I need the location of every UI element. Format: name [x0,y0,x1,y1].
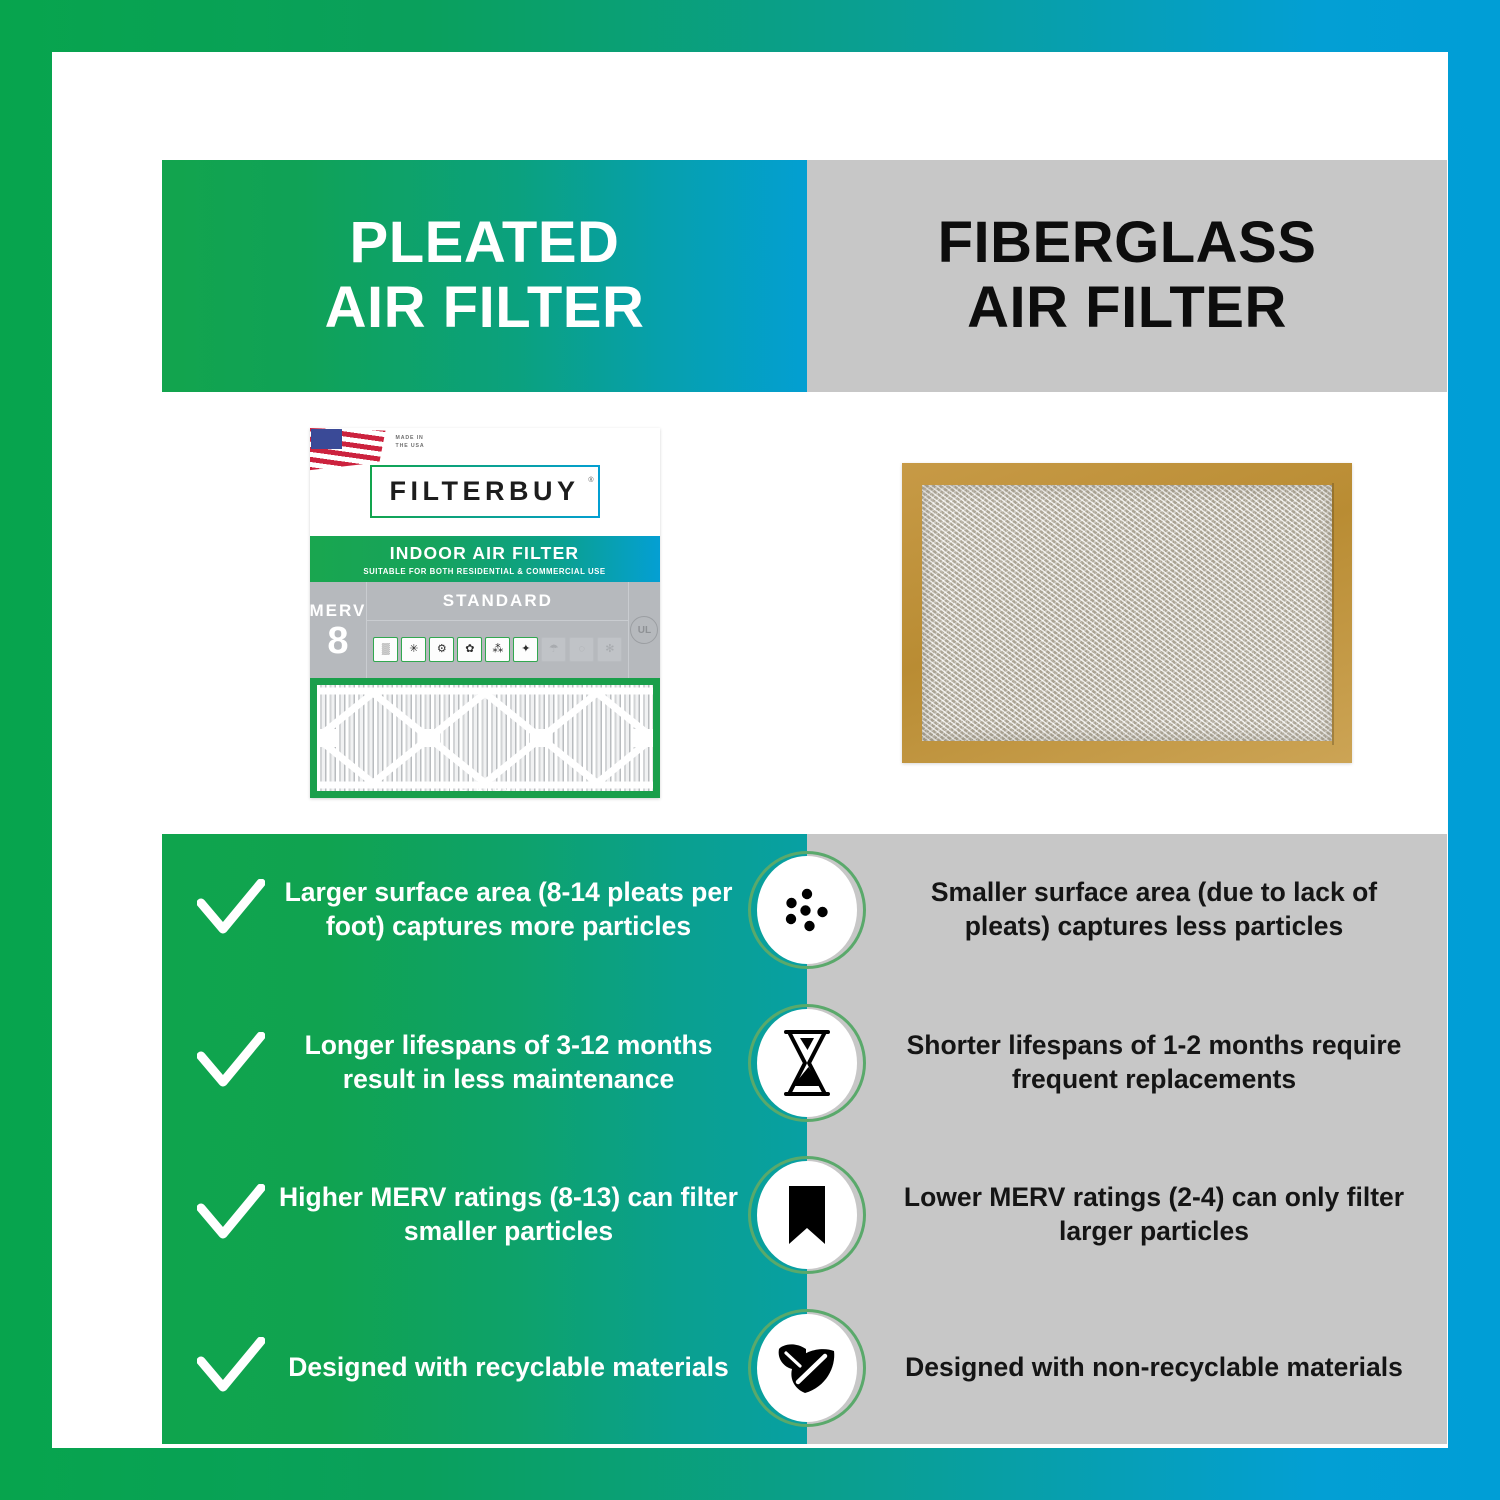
package-footer-brand: FILTERBUY [310,783,660,794]
certification-cell: UL [628,582,659,678]
comparison-cell-pleated: Longer lifespans of 3-12 months result i… [162,1029,807,1097]
ul-certification-icon: UL [630,616,658,644]
feature-icon-strip: ▒✳⚙✿⁂✦☂◌✻ [367,621,628,678]
header-pleated: PLEATED AIR FILTER [162,160,807,392]
grade-label: STANDARD [367,582,628,621]
smoke-icon: ☂ [541,637,566,662]
comparison-text-fiberglass: Lower MERV ratings (2-4) can only filter… [899,1181,1409,1249]
comparison-cell-fiberglass: Designed with non-recyclable materials [807,1351,1447,1385]
content-area: PLEATED AIR FILTER FIBERGLASS AIR FILTER… [162,160,1447,1444]
comparison-cell-fiberglass: Lower MERV ratings (2-4) can only filter… [807,1181,1447,1249]
virus-icon: ✻ [597,637,622,662]
comparison-cell-fiberglass: Shorter lifespans of 1-2 months require … [807,1029,1447,1097]
comparison-rows: Larger surface area (8-14 pleats per foo… [162,834,1447,1444]
header-fiberglass: FIBERGLASS AIR FILTER [807,160,1447,392]
bookmark-icon [757,1161,857,1269]
comparison-row: Larger surface area (8-14 pleats per foo… [162,834,1447,987]
pleated-filter-image-cell: MADE IN THE USA FILTERBUY ® INDOOR AIR F… [162,392,807,834]
comparison-cell-pleated: Designed with recyclable materials [162,1337,807,1399]
pleated-media-area: FILTERBUY [310,678,660,798]
dust-mites-icon: ✳ [401,637,426,662]
header-fiberglass-title: FIBERGLASS AIR FILTER [938,211,1317,341]
brand-logo-text: FILTERBUY [390,476,580,507]
comparison-medallion [748,851,866,969]
pollen-icon: ⚙ [429,637,454,662]
comparison-row: Designed with recyclable materials Desig… [162,1292,1447,1445]
package-band-subtitle: SUITABLE FOR BOTH RESIDENTIAL & COMMERCI… [363,567,605,576]
infographic-page: PLEATED AIR FILTER FIBERGLASS AIR FILTER… [0,0,1500,1500]
comparison-cell-fiberglass: Smaller surface area (due to lack of ple… [807,876,1447,944]
comparison-row: Longer lifespans of 3-12 months result i… [162,987,1447,1140]
package-band-title: INDOOR AIR FILTER [390,543,580,564]
package-band: INDOOR AIR FILTER SUITABLE FOR BOTH RESI… [310,536,660,582]
comparison-row: Higher MERV ratings (8-13) can filter sm… [162,1139,1447,1292]
comparison-medallion [748,1156,866,1274]
checkmark-icon [192,1032,270,1094]
header-row: PLEATED AIR FILTER FIBERGLASS AIR FILTER [162,160,1447,392]
comparison-medallion [748,1004,866,1122]
fiberglass-filter-photo [902,463,1352,763]
lattice-support-grid [317,685,653,791]
brand-logo-frame: FILTERBUY ® [370,465,600,518]
pleat-texture [317,685,653,791]
spec-middle: STANDARD ▒✳⚙✿⁂✦☂◌✻ [367,582,628,678]
comparison-text-fiberglass: Smaller surface area (due to lack of ple… [899,876,1409,944]
made-in-usa-label: MADE IN THE USA [396,435,425,451]
comparison-text-pleated: Larger surface area (8-14 pleats per foo… [270,876,747,944]
package-specs: MERV 8 STANDARD ▒✳⚙✿⁂✦☂◌✻ UL [310,582,660,678]
checkmark-icon [192,879,270,941]
comparison-text-pleated: Higher MERV ratings (8-13) can filter sm… [270,1181,747,1249]
mold-icon: ✿ [457,637,482,662]
hourglass-icon [757,1009,857,1117]
comparison-text-fiberglass: Designed with non-recyclable materials [899,1351,1409,1385]
flag-canton [311,429,342,449]
bacteria-icon: ⁂ [485,637,510,662]
comparison-text-pleated: Longer lifespans of 3-12 months result i… [270,1029,747,1097]
leaf-eco-icon [757,1314,857,1422]
comparison-medallion [748,1309,866,1427]
fiberglass-media-texture [922,485,1332,741]
comparison-table: Larger surface area (8-14 pleats per foo… [162,834,1447,1444]
comparison-text-pleated: Designed with recyclable materials [270,1351,747,1385]
comparison-cell-pleated: Larger surface area (8-14 pleats per foo… [162,876,807,944]
comparison-cell-pleated: Higher MERV ratings (8-13) can filter sm… [162,1181,807,1249]
header-pleated-title: PLEATED AIR FILTER [325,211,645,341]
odor-icon: ◌ [569,637,594,662]
filterbuy-package: MADE IN THE USA FILTERBUY ® INDOOR AIR F… [310,428,660,798]
comparison-text-fiberglass: Shorter lifespans of 1-2 months require … [899,1029,1409,1097]
merv-value: 8 [327,623,348,659]
fiberglass-filter-image-cell [807,392,1447,834]
frame-seam-line [1332,483,1334,745]
particles-icon [757,856,857,964]
merv-cell: MERV 8 [310,582,368,678]
merv-label: MERV [310,601,367,621]
trademark-symbol: ® [588,477,593,484]
pet-dander-icon: ✦ [513,637,538,662]
product-images-row: MADE IN THE USA FILTERBUY ® INDOOR AIR F… [162,392,1447,834]
package-top: MADE IN THE USA FILTERBUY ® [310,428,660,536]
checkmark-icon [192,1184,270,1246]
dust-lint-icon: ▒ [373,637,398,662]
inner-white-panel: PLEATED AIR FILTER FIBERGLASS AIR FILTER… [52,52,1448,1448]
checkmark-icon [192,1337,270,1399]
